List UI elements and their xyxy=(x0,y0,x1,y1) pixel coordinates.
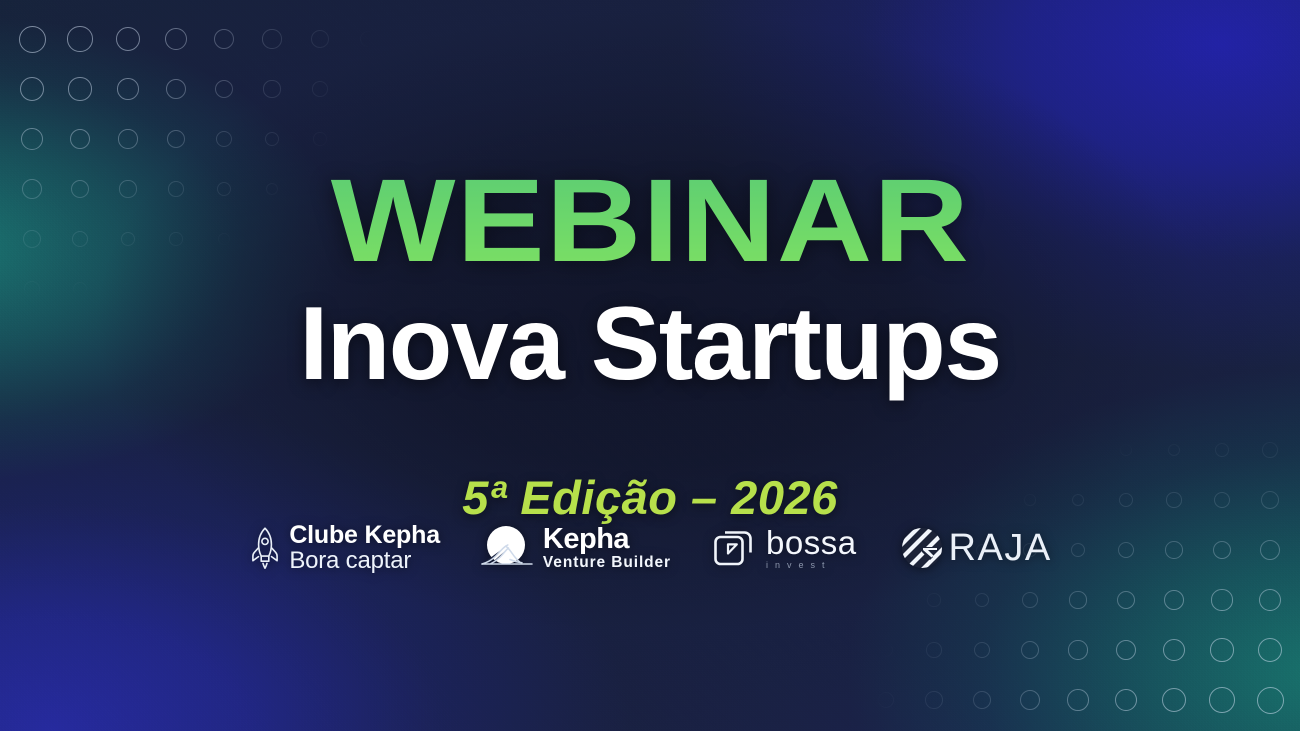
webinar-banner: WEBINAR Inova Startups 5ª Edição – 2026 xyxy=(0,0,1300,731)
logo-clube-kepha-tagline: Bora captar xyxy=(289,549,440,573)
logo-bossa-invest[interactable]: bossa invest xyxy=(711,525,857,571)
logo-clube-kepha-name: Clube Kepha xyxy=(289,523,440,549)
logo-clube-kepha[interactable]: Clube Kepha Bora captar xyxy=(248,523,440,573)
logo-raja-wordmark: RAJA xyxy=(949,529,1052,568)
logo-bossa-wordmark: bossa invest xyxy=(766,526,857,571)
banner-content: WEBINAR Inova Startups 5ª Edição – 2026 xyxy=(0,0,1300,731)
edition-subtitle: 5ª Edição – 2026 xyxy=(462,474,838,521)
logo-bossa-tagline: invest xyxy=(766,561,857,570)
rocket-icon xyxy=(248,525,282,571)
mountain-sun-icon xyxy=(480,523,534,573)
logo-kepha-name: Kepha xyxy=(543,525,671,555)
logo-raja-name: RAJA xyxy=(949,529,1052,568)
logo-kepha-wordmark: Kepha Venture Builder xyxy=(543,525,671,570)
eyebrow-webinar: WEBINAR xyxy=(330,162,969,280)
logo-kepha-venture-builder[interactable]: Kepha Venture Builder xyxy=(480,523,671,573)
striped-sphere-icon xyxy=(897,523,947,573)
page-title: Inova Startups xyxy=(299,290,1000,398)
logo-clube-kepha-wordmark: Clube Kepha Bora captar xyxy=(289,523,440,573)
logo-raja[interactable]: RAJA xyxy=(897,523,1052,573)
overlapping-squares-icon xyxy=(711,525,757,571)
sponsor-logo-row: Clube Kepha Bora captar xyxy=(0,523,1300,573)
logo-kepha-tagline: Venture Builder xyxy=(543,555,671,571)
logo-bossa-name: bossa xyxy=(766,526,857,560)
